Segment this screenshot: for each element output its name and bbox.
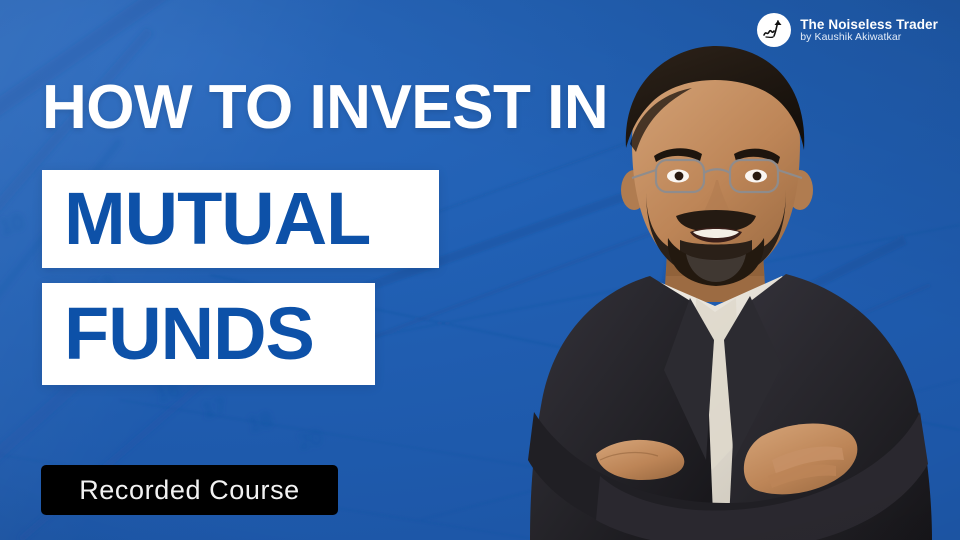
recorded-course-badge: Recorded Course (41, 465, 338, 515)
headline-highlight-funds: FUNDS (42, 283, 375, 385)
headline-highlight-mutual: MUTUAL (42, 170, 439, 268)
headline-line-2: MUTUAL (64, 182, 370, 256)
brand-title: The Noiseless Trader (800, 17, 938, 32)
headline-line-1: HOW TO INVEST IN (42, 78, 608, 139)
headline-line-3: FUNDS (64, 297, 314, 371)
brand-subtitle: by Kaushik Akiwatkar (800, 32, 938, 44)
noiseless-trader-logo-icon (757, 13, 791, 47)
course-thumbnail: 10 12 13 16 17 18 20 (0, 0, 960, 540)
brand-logo-lockup[interactable]: The Noiseless Trader by Kaushik Akiwatka… (757, 13, 938, 47)
badge-label: Recorded Course (79, 475, 300, 506)
